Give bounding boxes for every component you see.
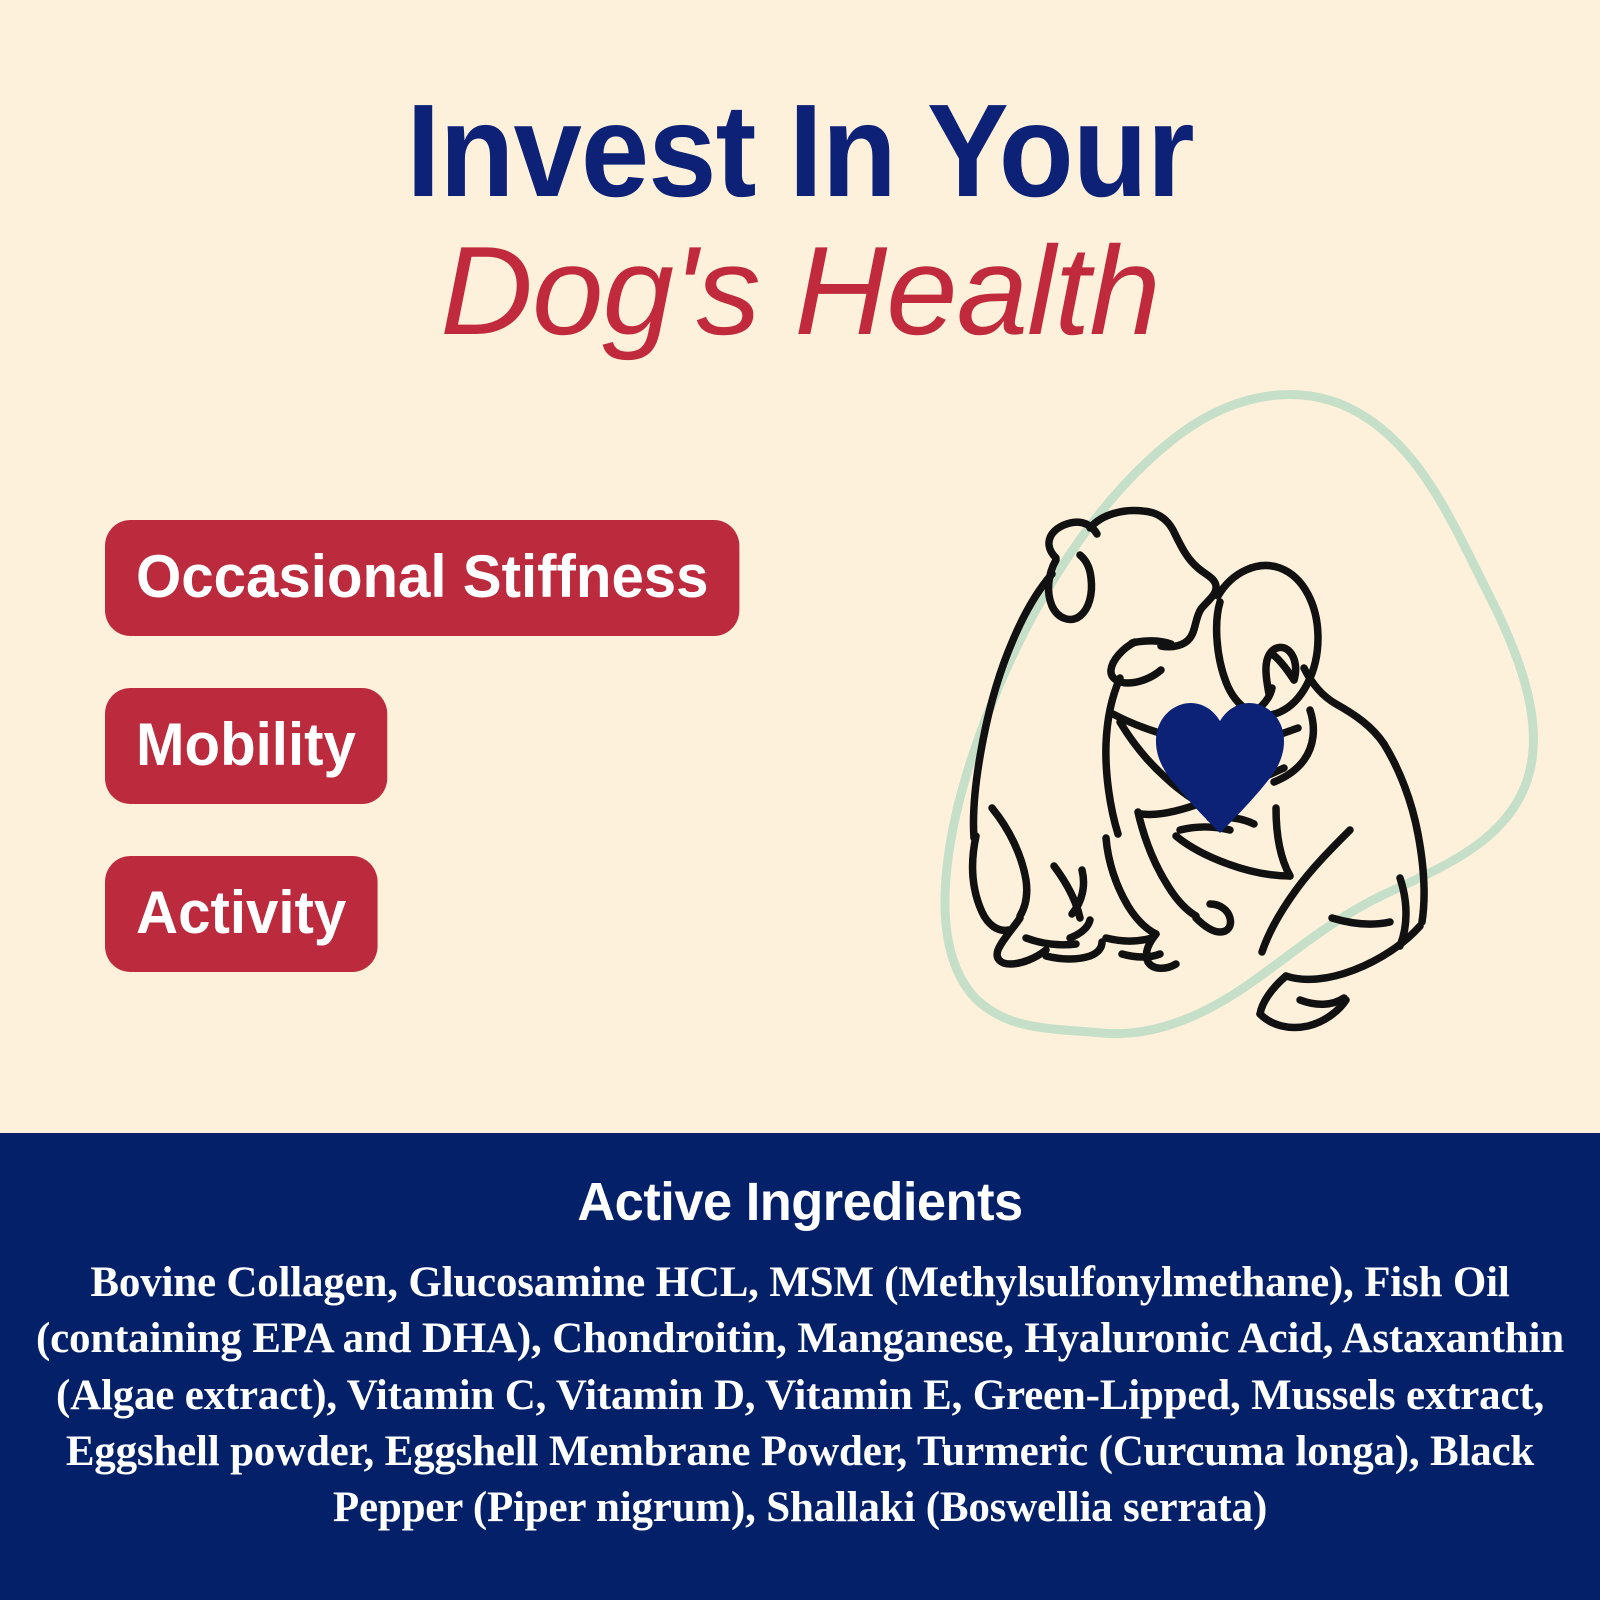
active-ingredients-text: Bovine Collagen, Glucosamine HCL, MSM (M… xyxy=(28,1233,1573,1537)
benefit-pill-activity[interactable]: Activity xyxy=(105,856,377,972)
benefit-pill-mobility[interactable]: Mobility xyxy=(105,688,387,804)
illustration-svg xyxy=(880,378,1545,1043)
benefit-pill-occasional-stiffness[interactable]: Occasional Stiffness xyxy=(105,520,740,636)
active-ingredients-title: Active Ingredients xyxy=(24,1133,1576,1233)
active-ingredients-band: Active Ingredients Bovine Collagen, Gluc… xyxy=(0,1133,1600,1600)
dog-and-owner-illustration xyxy=(880,378,1545,1043)
headline-line-2: Dog's Health xyxy=(0,229,1600,352)
benefit-pill-list: Occasional Stiffness Mobility Activity xyxy=(105,520,759,972)
headline-line-1: Invest In Your xyxy=(56,86,1544,215)
poster-root: Invest In Your Dog's Health Occasional S… xyxy=(0,0,1600,1600)
page-title: Invest In Your Dog's Health xyxy=(0,86,1600,353)
